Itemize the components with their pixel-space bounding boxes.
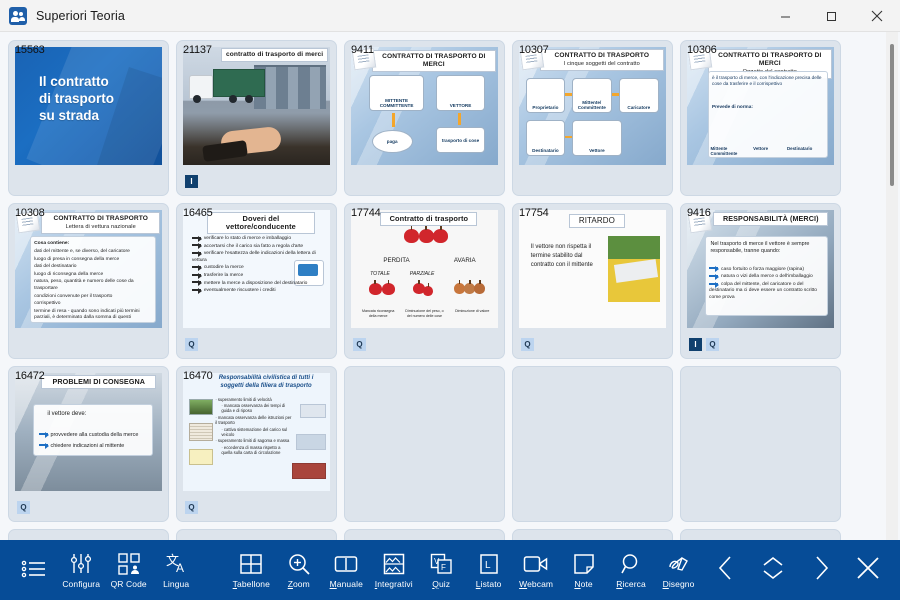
toolbar-zoom-button[interactable]: Zoom	[275, 541, 322, 599]
diagram-box: Vettore	[572, 120, 622, 155]
note-icon	[573, 552, 595, 576]
slide-card[interactable]: CONTRATTO DI TRASPORTO I cinque soggetti…	[512, 40, 673, 196]
toolbar-note-button[interactable]: Note	[560, 541, 607, 599]
slide-badges: Q	[17, 501, 30, 514]
badge-quiz[interactable]: Q	[185, 338, 198, 351]
slide-label: TOTALE	[370, 271, 390, 277]
diagram-box: trasporto di cose	[436, 127, 485, 153]
chevron-left-icon	[716, 555, 736, 586]
toolbar-disegno-button[interactable]: Disegno	[655, 541, 702, 599]
slide-id: 15563	[15, 44, 45, 56]
slide-title: CONTRATTO DI TRASPORTO DI MERCI	[372, 50, 496, 72]
toolbar-lingua-label: Lingua	[163, 579, 189, 589]
slide-id: 10308	[15, 207, 45, 219]
slide-thumbnail: contratto di trasporto di merci	[183, 47, 330, 165]
toolbar-configura-button[interactable]: Configura	[57, 541, 104, 599]
diagram-box: VETTORE	[436, 75, 485, 110]
slide-thumbnail: CONTRATTO DI TRASPORTO DI MERCI MITTENTE…	[351, 47, 498, 165]
toolbar-disegno-label: Disegno	[663, 579, 695, 589]
people-icon	[9, 7, 27, 25]
slide-id: 16472	[15, 370, 45, 382]
toolbar-tabellone-button[interactable]: Tabellone	[228, 541, 275, 599]
badge-quiz[interactable]: Q	[185, 501, 198, 514]
diagram-box: Destinatario	[526, 120, 564, 155]
toolbar-listato-button[interactable]: L Listato	[465, 541, 512, 599]
slide-caption: Mancata riconsegna della merce	[360, 309, 397, 318]
slide-thumbnail: RESPONSABILITÀ (MERCI) Nel trasporto di …	[687, 210, 834, 328]
slide-title: RITARDO	[569, 214, 625, 228]
slide-thumbnail: PROBLEMI DI CONSEGNA il vettore deve: pr…	[15, 373, 162, 491]
toolbar-webcam-label: Webcam	[519, 579, 553, 589]
slide-subtitle: I cinque soggetti del contratto	[543, 60, 661, 68]
toolbar-manuale-label: Manuale	[330, 579, 363, 589]
slide-card-empty[interactable]	[344, 366, 505, 522]
sliders-icon	[69, 552, 93, 576]
badge-quiz[interactable]: Q	[706, 338, 719, 351]
slide-card[interactable]: RITARDO Il vettore non rispetta il termi…	[512, 203, 673, 359]
slide-id: 9416	[687, 207, 711, 219]
slide-badges: Q	[185, 501, 198, 514]
slide-title: CONTRATTO DI TRASPORTO I cinque soggetti…	[540, 49, 664, 71]
slide-thumbnail: CONTRATTO DI TRASPORTO I cinque soggetti…	[519, 47, 666, 165]
toolbar-qrcode-button[interactable]: QR Code	[105, 541, 152, 599]
slide-badges: Q	[353, 338, 366, 351]
window-title: Superiori Teoria	[36, 9, 125, 23]
diagram-box: Caricatore	[619, 78, 659, 113]
slide-bullets: verificare lo stato di merce e imballagg…	[192, 236, 324, 296]
toolbar-note-label: Note	[574, 579, 592, 589]
slide-thumbnail: Contratto di trasporto PERDITA AVARIA TO…	[351, 210, 498, 328]
slide-lead: Cosa contiene:	[34, 241, 152, 248]
diagram-box: MITTENTE COMMITTENTE	[369, 75, 425, 110]
list-icon	[21, 557, 47, 581]
close-icon[interactable]	[854, 0, 900, 32]
slide-id: 17744	[351, 207, 381, 219]
slide-title: Il contratto di trasporto su strada	[39, 73, 114, 124]
window-controls	[762, 0, 900, 32]
slide-grid: Il contratto di trasporto su strada 1556…	[0, 32, 900, 540]
slide-id: 9411	[351, 44, 374, 56]
zoom-in-icon	[288, 552, 310, 576]
book-icon	[334, 552, 358, 576]
diagram-box: Mittente/ Committente	[572, 78, 612, 113]
slide-card[interactable]: Contratto di trasporto PERDITA AVARIA TO…	[344, 203, 505, 359]
close-icon	[855, 555, 881, 586]
slide-card-empty[interactable]	[680, 529, 841, 540]
slide-lead: il vettore deve:	[47, 411, 86, 418]
diagram-box: Proprietario	[526, 78, 564, 113]
slide-thumbnail: CONTRATTO DI TRASPORTO DI MERCI Oggetto …	[687, 47, 834, 165]
badge-info[interactable]: I	[689, 338, 702, 351]
slide-id: 16465	[183, 207, 213, 219]
slide-title: Contratto di trasporto	[380, 212, 477, 226]
slide-card[interactable]: Doveri del vettore/conducente verificare…	[176, 203, 337, 359]
slide-card-empty[interactable]	[512, 366, 673, 522]
toolbar-zoom-label: Zoom	[288, 579, 310, 589]
slide-id: 16470	[183, 370, 213, 382]
toolbar-configura-label: Configura	[62, 579, 100, 589]
slide-caption: Diminuzione del peso, o del numero delle…	[404, 309, 445, 318]
diagram-label: Vettore	[753, 146, 768, 151]
toolbar-quiz-button[interactable]: V F Quiz	[417, 541, 464, 599]
slide-card[interactable]: Il contratto di trasporto su strada 1556…	[8, 40, 169, 196]
slide-title: Doveri del vettore/conducente	[207, 212, 316, 234]
slide-bullets: · superamento limiti di velocità · manca…	[215, 397, 291, 457]
slide-label: PARZIALE	[410, 271, 435, 277]
diagram-label: Destinatario	[787, 146, 812, 151]
slide-card[interactable]: CONTRATTO DI TRASPORTO DI MERCI MITTENTE…	[344, 40, 505, 196]
slide-title: PROBLEMI DI CONSEGNA	[41, 375, 156, 389]
vertical-scrollbar[interactable]	[886, 32, 898, 540]
slide-id: 17754	[519, 207, 549, 219]
toolbar-integrativi-label: Integrativi	[375, 579, 413, 589]
slide-card[interactable]: RESPONSABILITÀ (MERCI) Nel trasporto di …	[680, 203, 841, 359]
slide-label: PERDITA	[383, 257, 409, 264]
slide-note: Prevede di norma:	[712, 104, 753, 109]
chevron-right-icon	[811, 555, 831, 586]
search-icon	[620, 552, 642, 576]
scrollbar-thumb[interactable]	[890, 44, 894, 186]
badge-quiz[interactable]: Q	[17, 501, 30, 514]
toolbar-quiz-label: Quiz	[432, 579, 450, 589]
slide-id: 21137	[183, 44, 212, 56]
slide-id: 10306	[687, 44, 717, 56]
slide-body: è il trasporto di merce, con l'indicazio…	[712, 75, 824, 87]
pen-icon	[667, 552, 691, 576]
slide-thumbnail: CONTRATTO DI TRASPORTO Lettera di vettur…	[15, 210, 162, 328]
slide-card-empty[interactable]	[344, 529, 505, 540]
slide-badges: Q	[185, 338, 198, 351]
toolbar-manuale-button[interactable]: Manuale	[323, 541, 370, 599]
slide-title: contratto di trasporto di merci	[221, 48, 328, 62]
slide-title: Responsabilità civilistica di tutti i so…	[207, 375, 326, 390]
slide-badges: I	[185, 175, 198, 188]
toolbar-lingua-button[interactable]: 文 A Lingua	[152, 541, 199, 599]
slide-bullets: dati del mittente e, se diverso, del car…	[34, 249, 153, 323]
slide-card[interactable]: CONTRATTO DI TRASPORTO DI MERCI Oggetto …	[680, 40, 841, 196]
title-bar: Superiori Teoria	[0, 0, 900, 32]
toolbar-ricerca-label: Ricerca	[616, 579, 646, 589]
slide-thumbnail: Doveri del vettore/conducente verificare…	[183, 210, 330, 328]
svg-text:F: F	[441, 563, 446, 572]
slide-body: Il vettore non rispetta il termine stabi…	[531, 243, 605, 270]
slide-bullets: caso fortuito o forza maggiore (rapina) …	[709, 267, 824, 303]
diagram-box: paga	[372, 130, 413, 154]
badge-quiz[interactable]: Q	[521, 338, 534, 351]
slide-card[interactable]: Responsabilità civilistica di tutti i so…	[176, 366, 337, 522]
toolbar-tabellone-label: Tabellone	[233, 579, 270, 589]
slide-subtitle: Lettera di vettura nazionale	[44, 223, 157, 231]
slide-badges: I Q	[689, 338, 719, 351]
slide-thumbnail: Il contratto di trasporto su strada	[15, 47, 162, 165]
toolbar-integrativi-button[interactable]: Integrativi	[370, 541, 417, 599]
slide-bullets: provvedere alla custodia della merce chi…	[39, 430, 151, 452]
slide-card[interactable]: CONTRATTO DI TRASPORTO Lettera di vettur…	[8, 203, 169, 359]
slide-card[interactable]: PROBLEMI DI CONSEGNA il vettore deve: pr…	[8, 366, 169, 522]
prev-button[interactable]	[702, 541, 749, 599]
slide-thumbnail: RITARDO Il vettore non rispetta il termi…	[519, 210, 666, 328]
webcam-icon	[523, 552, 549, 576]
slide-title: CONTRATTO DI TRASPORTO Lettera di vettur…	[41, 212, 160, 234]
toolbar-list-button[interactable]	[10, 541, 57, 599]
minimize-icon[interactable]	[762, 0, 808, 32]
toolbar-listato-label: Listato	[476, 579, 502, 589]
slide-title: RESPONSABILITÀ (MERCI)	[713, 212, 828, 226]
slide-card-empty[interactable]	[680, 366, 841, 522]
chevron-updown-icon	[760, 555, 786, 586]
maximize-icon[interactable]	[808, 0, 854, 32]
close-button[interactable]	[845, 541, 892, 599]
slide-caption: Diminuzione di valore	[454, 309, 491, 313]
slide-card[interactable]: contratto di trasporto di merci 21137 I	[176, 40, 337, 196]
diagram-label: Mittente Committente	[711, 146, 743, 156]
slide-grid-area[interactable]: Il contratto di trasporto su strada 1556…	[0, 32, 900, 540]
updown-button[interactable]	[750, 541, 797, 599]
badge-info[interactable]: I	[185, 175, 198, 188]
listing-icon: L	[478, 552, 500, 576]
slide-thumbnail: Responsabilità civilistica di tutti i so…	[183, 373, 330, 491]
slide-label: AVARIA	[454, 257, 476, 264]
vf-card-icon: V F	[430, 552, 452, 576]
toolbar-qrcode-label: QR Code	[111, 579, 147, 589]
svg-text:L: L	[485, 560, 491, 571]
toolbar-ricerca-button[interactable]: Ricerca	[607, 541, 654, 599]
slide-card-empty[interactable]	[512, 529, 673, 540]
images-icon	[383, 552, 405, 576]
slide-card-empty[interactable]	[8, 529, 169, 540]
slide-card-empty[interactable]	[176, 529, 337, 540]
language-icon: 文 A	[164, 552, 188, 576]
slide-badges: Q	[521, 338, 534, 351]
qrcode-icon	[118, 552, 140, 576]
badge-quiz[interactable]: Q	[353, 338, 366, 351]
toolbar-webcam-button[interactable]: Webcam	[512, 541, 559, 599]
slide-lead: Nel trasporto di merce il vettore è semp…	[711, 241, 824, 255]
slide-id: 10307	[519, 44, 549, 56]
svg-text:A: A	[176, 561, 184, 575]
bottom-toolbar: Configura QR Code 文 A Lingua	[0, 540, 900, 600]
next-button[interactable]	[797, 541, 844, 599]
grid-icon	[240, 552, 262, 576]
